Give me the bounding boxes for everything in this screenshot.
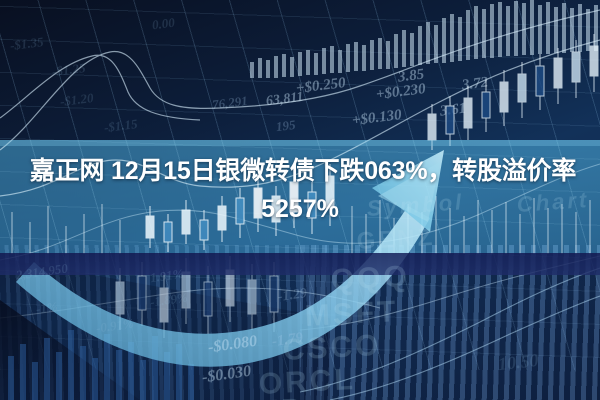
ticker-msft: MSFT (304, 295, 399, 334)
histogram-top (250, 0, 598, 78)
headline-line-2: 5257% (0, 190, 600, 228)
misc-number-9: 10.50 (497, 350, 539, 375)
misc-number-8: -1% (35, 299, 59, 318)
teal-band-top-edge (0, 140, 600, 146)
headline-text: 嘉正网 12月15日银微转债下跌063%，转股溢价率 5257% (0, 152, 600, 228)
dark-blue-separator-band (0, 253, 600, 275)
ticker-qqq: QQQ (330, 260, 411, 298)
ticker-genz: GENZ (356, 224, 436, 256)
news-thumbnail-image: +$0.250 3.85 76,291 63,811 +$0.230 3.72 … (0, 0, 600, 400)
headline-line-1: 嘉正网 12月15日银微转债下跌063%，转股溢价率 (0, 152, 600, 190)
